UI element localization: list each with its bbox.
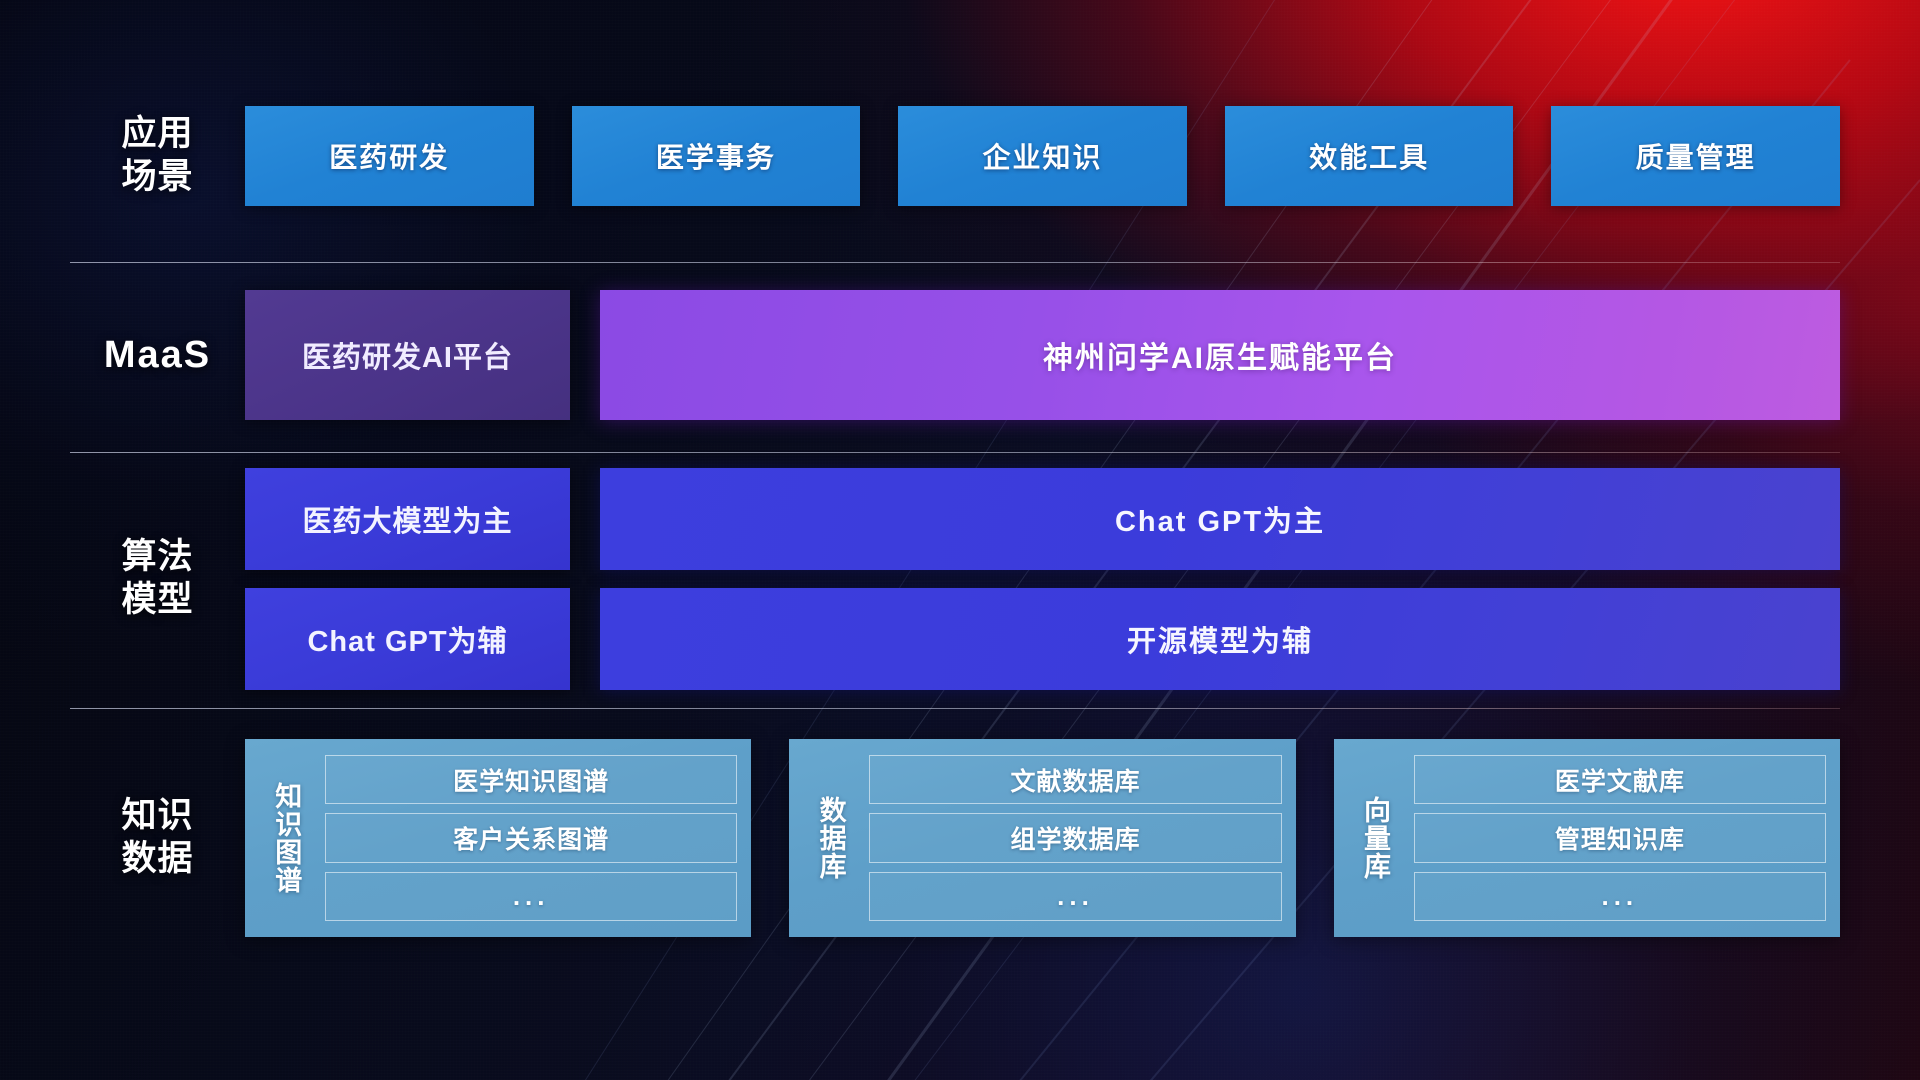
application-card-list: 医药研发 医学事务 企业知识 效能工具 质量管理: [245, 106, 1840, 206]
knowledge-card-knowledge-graph[interactable]: 知识图谱 医学知识图谱 客户关系图谱 ...: [245, 739, 751, 937]
knowledge-card-database[interactable]: 数据库 文献数据库 组学数据库 ...: [789, 739, 1295, 937]
knowledge-item-2-1[interactable]: 管理知识库: [1414, 813, 1826, 862]
app-card-1[interactable]: 医学事务: [572, 106, 861, 206]
divider-applications-maas: [70, 262, 1840, 263]
knowledge-card-title-1: 数据库: [799, 755, 861, 921]
row-body-knowledge: 知识图谱 医学知识图谱 客户关系图谱 ... 数据库 文献数据库 组学数据库 .…: [245, 739, 1840, 937]
maas-card-shenzhou-wenxue-platform[interactable]: 神州问学AI原生赋能平台: [600, 290, 1840, 420]
algorithm-line-1: Chat GPT为辅 开源模型为辅: [245, 588, 1840, 690]
algorithm-line-0: 医药大模型为主 Chat GPT为主: [245, 468, 1840, 570]
algorithm-card-grid: 医药大模型为主 Chat GPT为主 Chat GPT为辅 开源模型为辅: [245, 468, 1840, 690]
knowledge-item-0-0[interactable]: 医学知识图谱: [325, 755, 737, 804]
row-maas: MaaS 医药研发AI平台 神州问学AI原生赋能平台: [70, 290, 1840, 420]
row-algorithms: 算法 模型 医药大模型为主 Chat GPT为主 Chat GPT为辅 开源模型…: [70, 468, 1840, 690]
row-label-knowledge: 知识 数据: [70, 795, 245, 880]
knowledge-item-1-0[interactable]: 文献数据库: [869, 755, 1281, 804]
app-card-3[interactable]: 效能工具: [1225, 106, 1514, 206]
algorithm-card-secondary-left[interactable]: Chat GPT为辅: [245, 588, 570, 690]
row-label-maas: MaaS: [70, 332, 245, 378]
knowledge-card-title-2: 向量库: [1344, 755, 1406, 921]
knowledge-item-1-2[interactable]: ...: [869, 872, 1281, 921]
knowledge-item-0-2[interactable]: ...: [325, 872, 737, 921]
diagram-content: 应用 场景 医药研发 医学事务 企业知识 效能工具 质量管理 MaaS 医药研发…: [0, 0, 1920, 1080]
knowledge-card-title-0: 知识图谱: [255, 755, 317, 921]
knowledge-card-vector-store[interactable]: 向量库 医学文献库 管理知识库 ...: [1334, 739, 1840, 937]
row-body-applications: 医药研发 医学事务 企业知识 效能工具 质量管理: [245, 106, 1840, 206]
knowledge-card-list: 知识图谱 医学知识图谱 客户关系图谱 ... 数据库 文献数据库 组学数据库 .…: [245, 739, 1840, 937]
maas-card-pharma-ai-platform[interactable]: 医药研发AI平台: [245, 290, 570, 420]
row-label-algorithms: 算法 模型: [70, 536, 245, 621]
row-applications: 应用 场景 医药研发 医学事务 企业知识 效能工具 质量管理: [70, 106, 1840, 206]
knowledge-item-list-2: 医学文献库 管理知识库 ...: [1414, 755, 1826, 921]
divider-algorithms-knowledge: [70, 708, 1840, 709]
divider-maas-algorithms: [70, 452, 1840, 453]
app-card-2[interactable]: 企业知识: [898, 106, 1187, 206]
row-body-algorithms: 医药大模型为主 Chat GPT为主 Chat GPT为辅 开源模型为辅: [245, 468, 1840, 690]
knowledge-item-0-1[interactable]: 客户关系图谱: [325, 813, 737, 862]
knowledge-item-list-1: 文献数据库 组学数据库 ...: [869, 755, 1281, 921]
algorithm-card-primary-right[interactable]: Chat GPT为主: [600, 468, 1840, 570]
app-card-0[interactable]: 医药研发: [245, 106, 534, 206]
row-body-maas: 医药研发AI平台 神州问学AI原生赋能平台: [245, 290, 1840, 420]
maas-card-list: 医药研发AI平台 神州问学AI原生赋能平台: [245, 290, 1840, 420]
app-card-4[interactable]: 质量管理: [1551, 106, 1840, 206]
algorithm-card-secondary-right[interactable]: 开源模型为辅: [600, 588, 1840, 690]
knowledge-item-1-1[interactable]: 组学数据库: [869, 813, 1281, 862]
knowledge-item-2-0[interactable]: 医学文献库: [1414, 755, 1826, 804]
algorithm-card-primary-left[interactable]: 医药大模型为主: [245, 468, 570, 570]
row-knowledge: 知识 数据 知识图谱 医学知识图谱 客户关系图谱 ... 数据库: [70, 738, 1840, 938]
knowledge-item-list-0: 医学知识图谱 客户关系图谱 ...: [325, 755, 737, 921]
slide-canvas: 应用 场景 医药研发 医学事务 企业知识 效能工具 质量管理 MaaS 医药研发…: [0, 0, 1920, 1080]
row-label-applications: 应用 场景: [70, 113, 245, 198]
knowledge-item-2-2[interactable]: ...: [1414, 872, 1826, 921]
